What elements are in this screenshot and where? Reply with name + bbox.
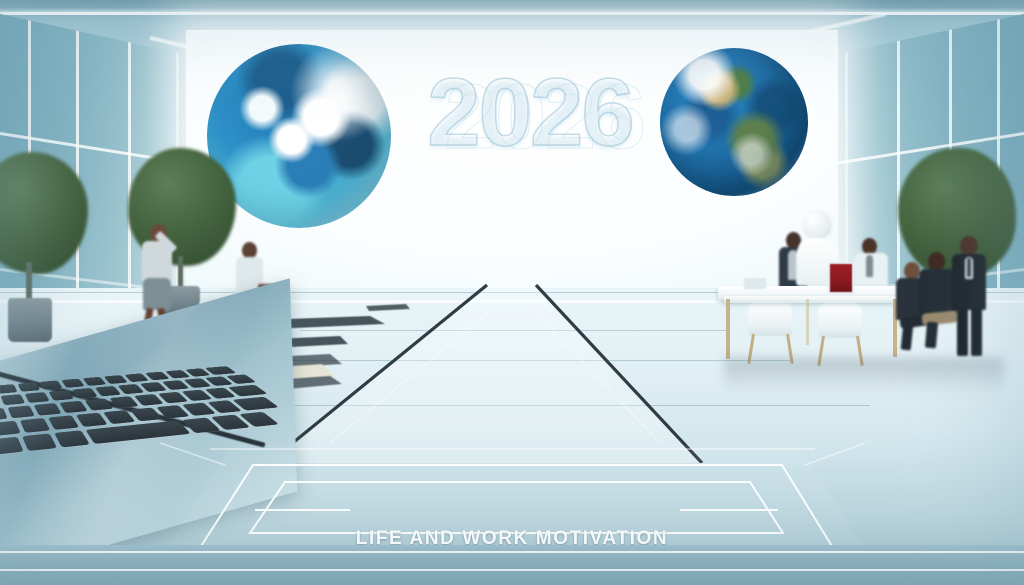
key[interactable] xyxy=(145,372,170,381)
person-standing-man xyxy=(948,236,992,362)
tie xyxy=(866,255,873,277)
skirt xyxy=(143,278,171,310)
key[interactable] xyxy=(61,379,84,388)
office-scene: 2026 2026 xyxy=(0,0,1024,585)
group-reflection xyxy=(724,358,1004,394)
table-leg-3 xyxy=(806,299,809,345)
key[interactable] xyxy=(20,418,51,433)
necktie xyxy=(967,258,971,277)
leg-left xyxy=(957,308,968,356)
table-leg-1 xyxy=(726,299,730,359)
key[interactable] xyxy=(109,396,138,408)
head xyxy=(960,236,978,256)
plant-left-pot-1 xyxy=(8,298,52,342)
floor-strip-line-2 xyxy=(0,569,1024,571)
key[interactable] xyxy=(7,405,34,418)
key[interactable] xyxy=(0,384,18,394)
key[interactable] xyxy=(104,375,128,384)
globe-right-earth xyxy=(660,48,808,196)
key[interactable] xyxy=(76,413,108,427)
plant-left-trunk-1 xyxy=(26,262,32,302)
key[interactable] xyxy=(18,382,41,391)
wall-year-text: 2026 xyxy=(415,58,645,168)
key[interactable] xyxy=(83,377,107,386)
leg-right xyxy=(971,308,982,356)
key[interactable] xyxy=(25,392,50,403)
conference-table-edge xyxy=(724,296,902,303)
floor-strip-line-1 xyxy=(0,551,1024,553)
key[interactable] xyxy=(48,390,74,401)
key[interactable] xyxy=(34,403,62,416)
key[interactable] xyxy=(118,384,145,394)
shin xyxy=(901,324,914,351)
key[interactable] xyxy=(40,380,63,389)
key[interactable] xyxy=(124,373,148,382)
key[interactable] xyxy=(72,388,98,399)
key[interactable] xyxy=(48,415,79,430)
key[interactable] xyxy=(103,410,135,424)
floor-bottom-strip xyxy=(0,545,1024,585)
key[interactable] xyxy=(0,394,25,405)
shin xyxy=(925,322,938,349)
silver-laptop xyxy=(744,278,766,289)
key[interactable] xyxy=(0,408,8,422)
head xyxy=(802,210,832,240)
key[interactable] xyxy=(95,386,121,396)
chair-2 xyxy=(818,302,862,338)
key[interactable] xyxy=(59,401,87,413)
chair-1 xyxy=(748,300,792,336)
key[interactable] xyxy=(85,398,114,410)
red-laptop-screen xyxy=(828,262,854,294)
